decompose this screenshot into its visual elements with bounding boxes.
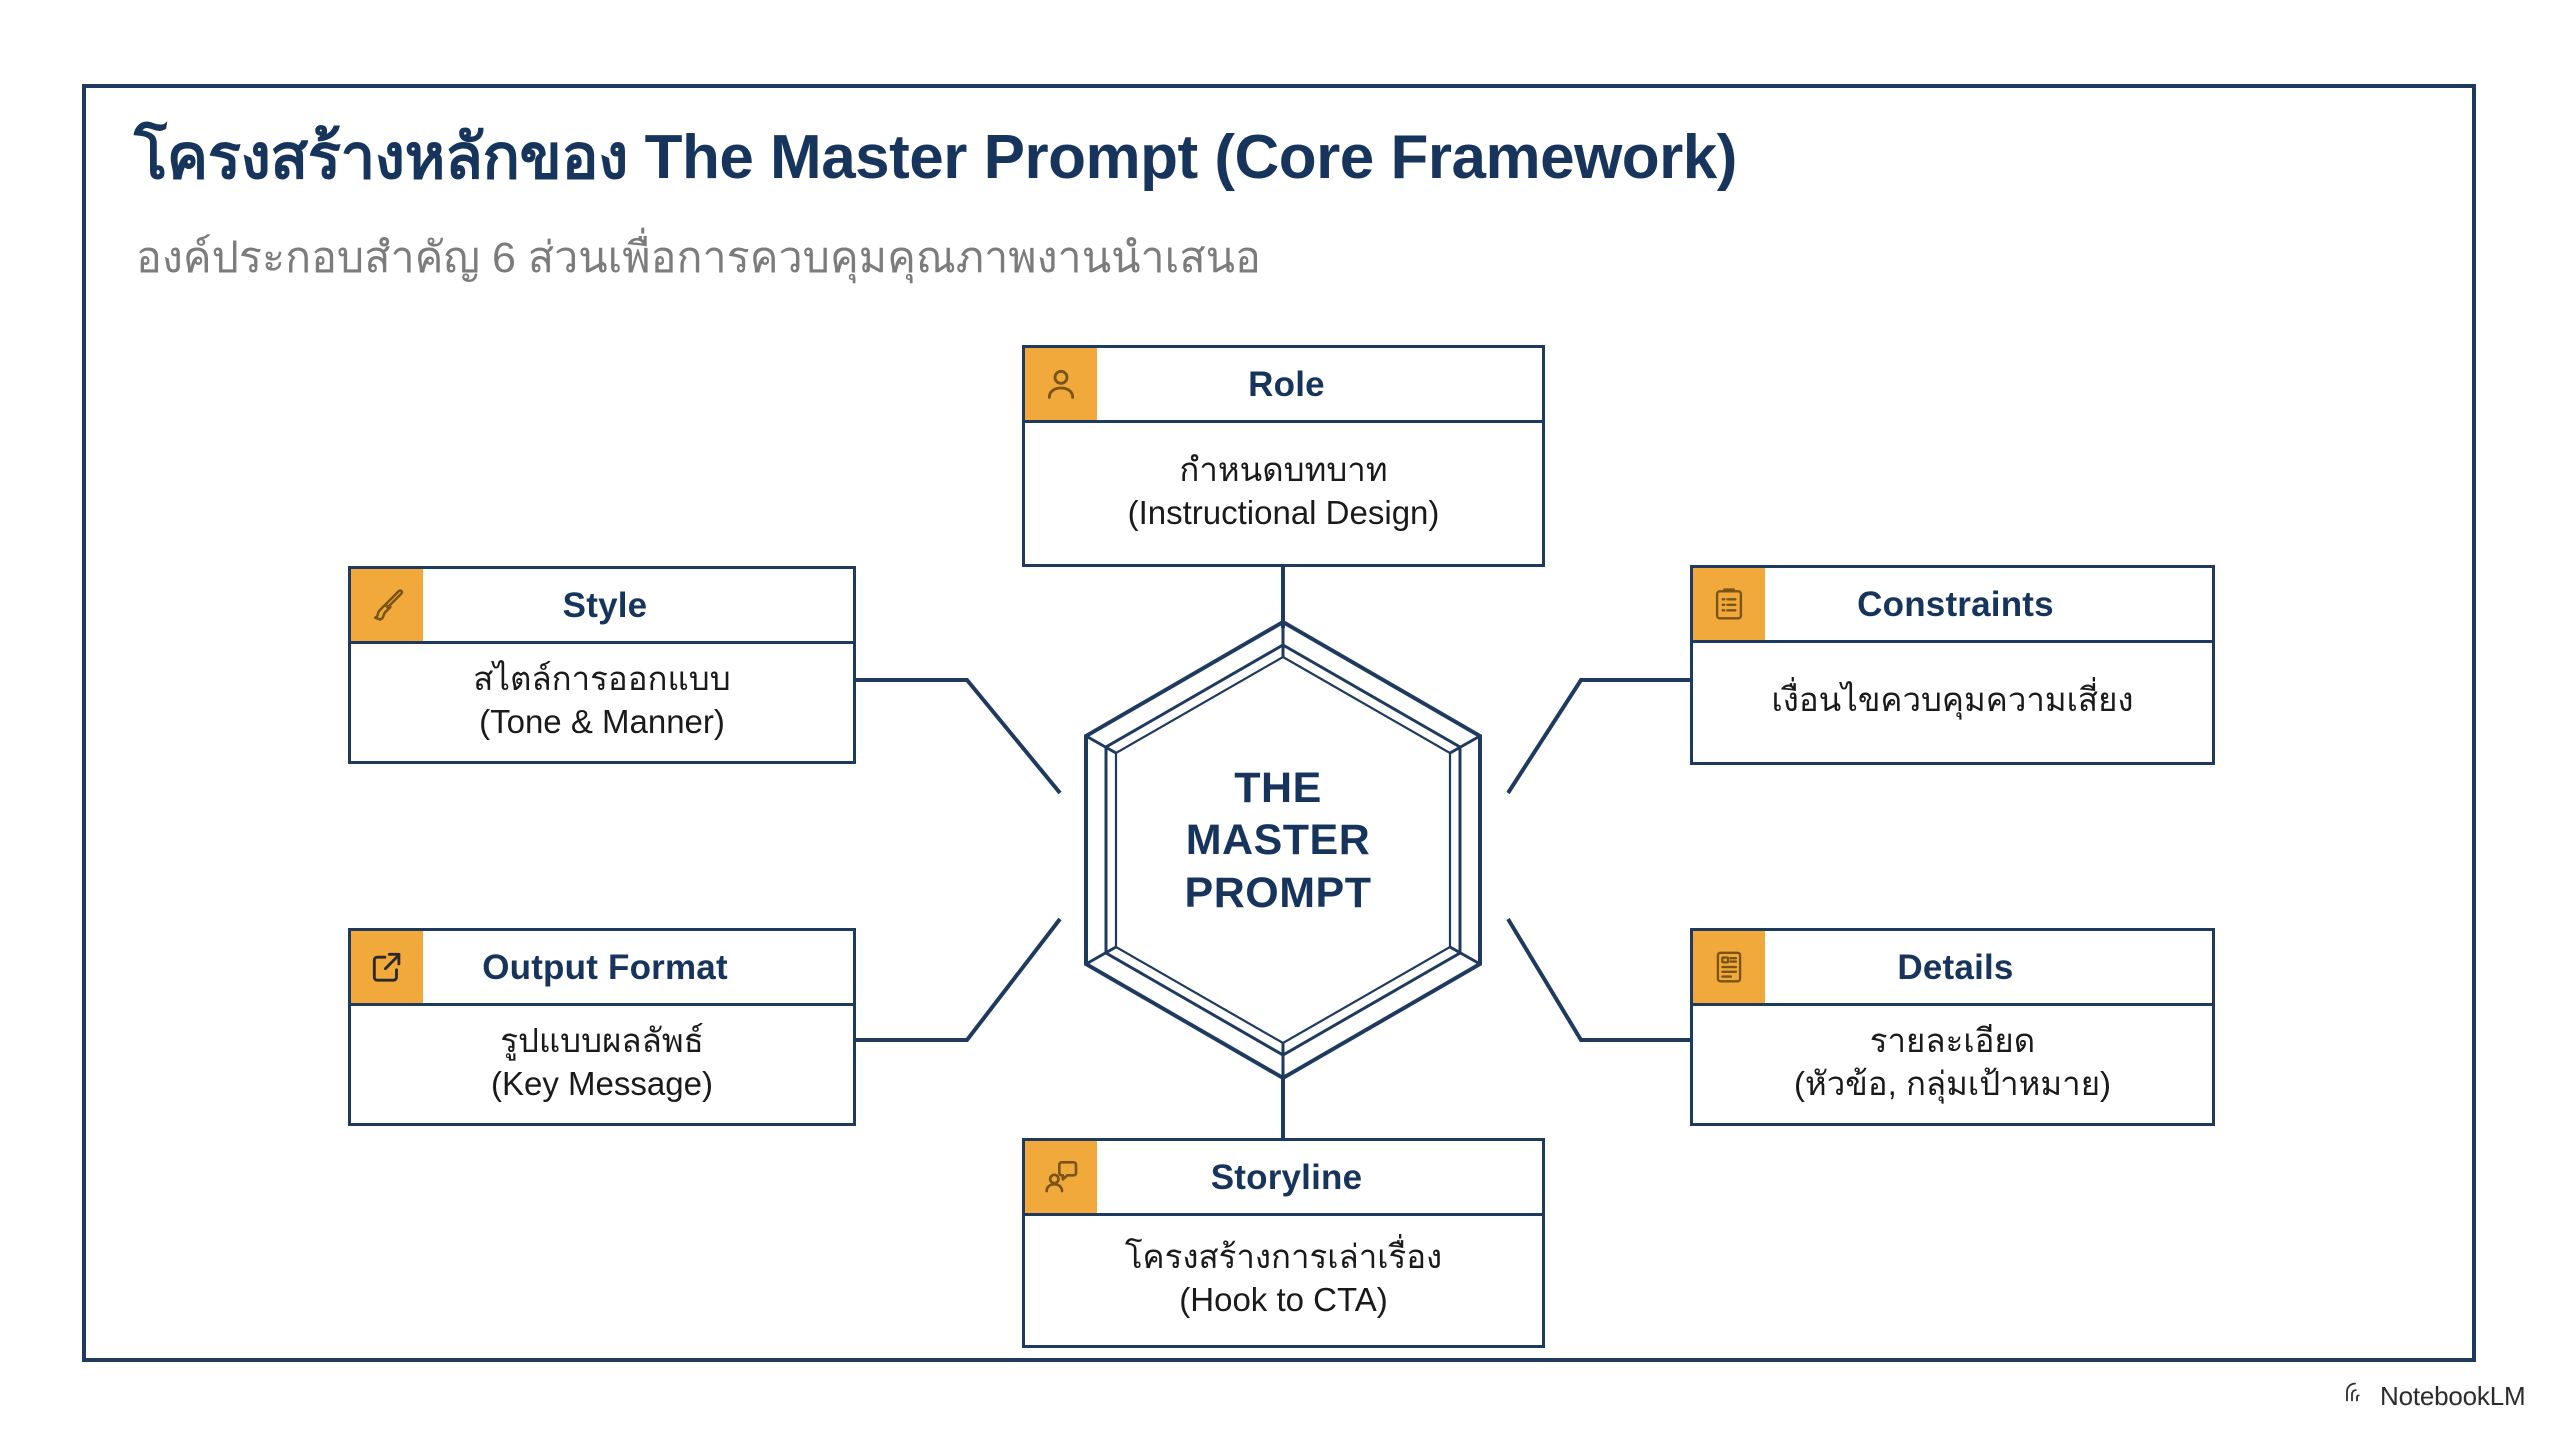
clipboard-icon: [1693, 568, 1765, 640]
page-subtitle: องค์ประกอบสำคัญ 6 ส่วนเพื่อการควบคุมคุณภ…: [136, 233, 1261, 285]
person-icon: [1025, 348, 1097, 420]
node-details-line2: (หัวข้อ, กลุ่มเป้าหมาย): [1794, 1063, 2111, 1106]
infographic-canvas: โครงสร้างหลักของ The Master Prompt (Core…: [0, 0, 2560, 1429]
node-details[interactable]: Details รายละเอียด (หัวข้อ, กลุ่มเป้าหมา…: [1690, 928, 2215, 1126]
node-style-line1: สไตล์การออกแบบ: [473, 658, 730, 701]
node-output-format-header: Output Format: [351, 931, 853, 1006]
node-role-line1: กำหนดบทบาท: [1179, 449, 1387, 492]
document-icon: [1693, 931, 1765, 1003]
node-style[interactable]: Style สไตล์การออกแบบ (Tone & Manner): [348, 566, 856, 764]
notebooklm-logo-icon: [2344, 1381, 2370, 1410]
node-role-header: Role: [1025, 348, 1542, 423]
node-storyline-line1: โครงสร้างการเล่าเรื่อง: [1125, 1236, 1442, 1279]
brand-name: NotebookLM: [2380, 1383, 2525, 1409]
node-role-title: Role: [1097, 367, 1542, 402]
hexagon-center-label: THE MASTER PROMPT: [1128, 762, 1428, 919]
node-output-format-line1: รูปแบบผลลัพธ์: [500, 1020, 704, 1063]
brand-footer: NotebookLM: [2344, 1381, 2525, 1410]
page-title: โครงสร้างหลักของ The Master Prompt (Core…: [134, 122, 1737, 193]
person-speech-icon: [1025, 1141, 1097, 1213]
node-storyline[interactable]: Storyline โครงสร้างการเล่าเรื่อง (Hook t…: [1022, 1138, 1545, 1348]
node-constraints-title: Constraints: [1765, 587, 2212, 622]
node-constraints-body: เงื่อนไขควบคุมความเสี่ยง: [1693, 643, 2212, 762]
node-role-line2: (Instructional Design): [1128, 492, 1440, 535]
node-constraints-line1: เงื่อนไขควบคุมความเสี่ยง: [1771, 679, 2133, 722]
node-role-body: กำหนดบทบาท (Instructional Design): [1025, 423, 1542, 564]
node-role[interactable]: Role กำหนดบทบาท (Instructional Design): [1022, 345, 1545, 567]
hexagon-label-line2: MASTER: [1128, 814, 1428, 866]
node-storyline-body: โครงสร้างการเล่าเรื่อง (Hook to CTA): [1025, 1216, 1542, 1345]
node-details-line1: รายละเอียด: [1870, 1020, 2035, 1063]
node-style-header: Style: [351, 569, 853, 644]
node-style-line2: (Tone & Manner): [479, 701, 725, 744]
node-constraints-header: Constraints: [1693, 568, 2212, 643]
node-storyline-title: Storyline: [1097, 1160, 1542, 1195]
node-storyline-header: Storyline: [1025, 1141, 1542, 1216]
external-link-icon: [351, 931, 423, 1003]
node-details-title: Details: [1765, 950, 2212, 985]
node-storyline-line2: (Hook to CTA): [1179, 1279, 1387, 1322]
node-constraints[interactable]: Constraints เงื่อนไขควบคุมความเสี่ยง: [1690, 565, 2215, 765]
node-details-body: รายละเอียด (หัวข้อ, กลุ่มเป้าหมาย): [1693, 1006, 2212, 1123]
hexagon-label-line3: PROMPT: [1128, 867, 1428, 919]
hexagon-label-line1: THE: [1128, 762, 1428, 814]
paintbrush-icon: [351, 569, 423, 641]
node-details-header: Details: [1693, 931, 2212, 1006]
node-output-format[interactable]: Output Format รูปแบบผลลัพธ์ (Key Message…: [348, 928, 856, 1126]
node-output-format-title: Output Format: [423, 950, 853, 985]
node-style-body: สไตล์การออกแบบ (Tone & Manner): [351, 644, 853, 761]
node-style-title: Style: [423, 588, 853, 623]
node-output-format-line2: (Key Message): [491, 1063, 713, 1106]
node-output-format-body: รูปแบบผลลัพธ์ (Key Message): [351, 1006, 853, 1123]
